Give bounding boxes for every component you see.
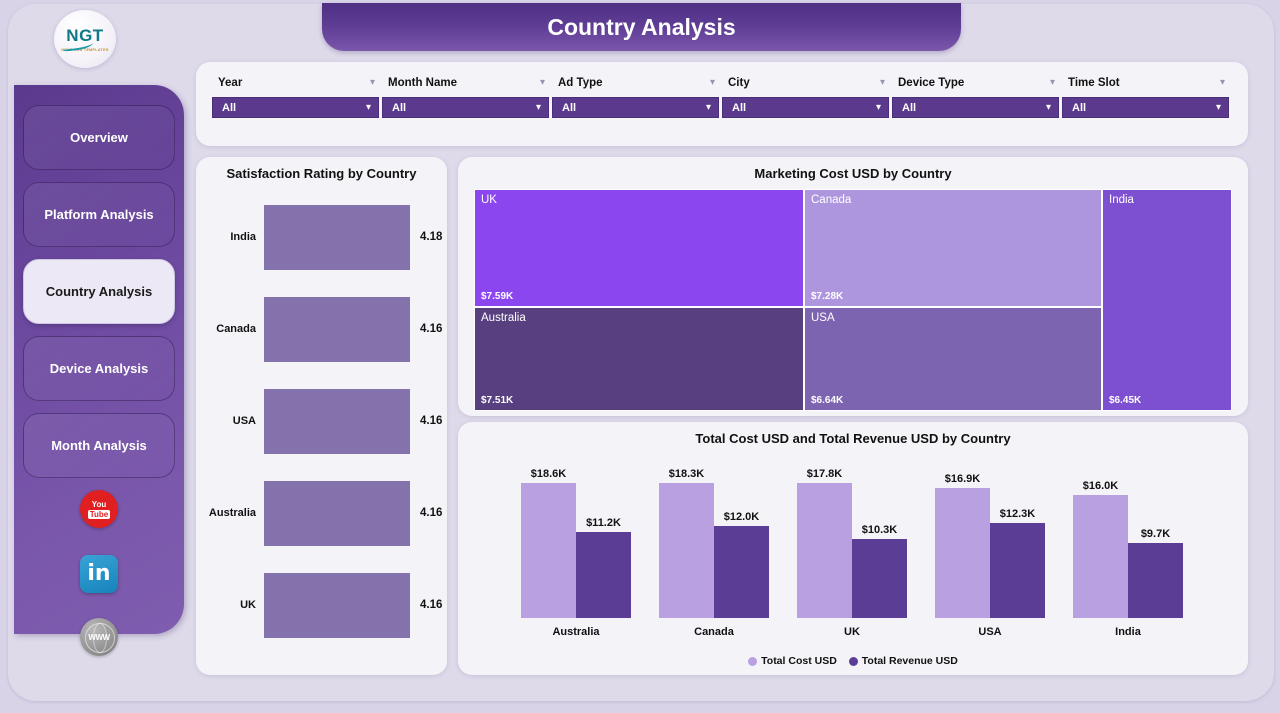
treemap-tile-label: Canada bbox=[811, 194, 851, 206]
column-bar[interactable] bbox=[1128, 543, 1183, 618]
sidebar-item-platform-analysis[interactable]: Platform Analysis bbox=[23, 182, 175, 247]
column-bars: $18.6K$11.2K bbox=[506, 468, 646, 618]
satisfaction-bar-row: India4.18 bbox=[196, 191, 447, 283]
satisfaction-bar-row: UK4.16 bbox=[196, 559, 447, 651]
column-category-label: Australia bbox=[506, 626, 646, 638]
chevron-down-icon[interactable]: ▾ bbox=[370, 78, 375, 88]
legend-color-swatch bbox=[748, 657, 757, 666]
column-group: $18.3K$12.0KCanada bbox=[644, 450, 784, 640]
slicer-dropdown[interactable]: All▾ bbox=[382, 97, 549, 118]
legend-label: Total Revenue USD bbox=[862, 655, 958, 667]
column-bar[interactable] bbox=[935, 488, 990, 618]
chevron-down-icon[interactable]: ▾ bbox=[1220, 78, 1225, 88]
satisfaction-category-label: UK bbox=[196, 599, 264, 611]
satisfaction-category-label: India bbox=[196, 231, 264, 243]
satisfaction-bar[interactable] bbox=[264, 573, 410, 638]
sidebar-item-label: Device Analysis bbox=[50, 361, 149, 376]
satisfaction-value-label: 4.16 bbox=[420, 507, 442, 519]
slicer-device-type[interactable]: Device Type▾All▾ bbox=[892, 74, 1059, 118]
slicer-dropdown[interactable]: All▾ bbox=[1062, 97, 1229, 118]
treemap-tile-value: $6.64K bbox=[811, 395, 843, 406]
sidebar-item-label: Country Analysis bbox=[46, 284, 152, 299]
column-chart-title: Total Cost USD and Total Revenue USD by … bbox=[458, 422, 1248, 446]
sidebar-item-label: Overview bbox=[70, 130, 128, 145]
treemap-tile[interactable]: Canada$7.28K bbox=[804, 189, 1102, 307]
chevron-down-icon[interactable]: ▾ bbox=[880, 78, 885, 88]
slicer-city[interactable]: City▾All▾ bbox=[722, 74, 889, 118]
satisfaction-category-label: Canada bbox=[196, 323, 264, 335]
sidebar-item-overview[interactable]: Overview bbox=[23, 105, 175, 170]
column-group: $16.9K$12.3KUSA bbox=[920, 450, 1060, 640]
treemap-tile-label: USA bbox=[811, 312, 835, 324]
treemap-tile-value: $7.51K bbox=[481, 395, 513, 406]
column-group: $17.8K$10.3KUK bbox=[782, 450, 922, 640]
legend-label: Total Cost USD bbox=[761, 655, 837, 667]
satisfaction-category-label: Australia bbox=[196, 507, 264, 519]
treemap-tile-label: Australia bbox=[481, 312, 526, 324]
satisfaction-value-label: 4.16 bbox=[420, 415, 442, 427]
chevron-down-icon: ▾ bbox=[1046, 102, 1051, 113]
satisfaction-category-label: USA bbox=[196, 415, 264, 427]
column-bar-wrap: $9.7K bbox=[1128, 468, 1183, 618]
slicer-list: Year▾All▾Month Name▾All▾Ad Type▾All▾City… bbox=[196, 62, 1248, 118]
column-category-label: USA bbox=[920, 626, 1060, 638]
treemap-tile[interactable]: USA$6.64K bbox=[804, 307, 1102, 411]
chevron-down-icon: ▾ bbox=[366, 102, 371, 113]
legend-item[interactable]: Total Revenue USD bbox=[849, 655, 958, 667]
column-bar[interactable] bbox=[852, 539, 907, 618]
slicer-header: Device Type▾ bbox=[892, 74, 1059, 92]
treemap-tile-label: UK bbox=[481, 194, 497, 206]
column-bar[interactable] bbox=[576, 532, 631, 618]
slicer-year[interactable]: Year▾All▾ bbox=[212, 74, 379, 118]
youtube-icon[interactable]: You Tube bbox=[80, 490, 118, 528]
satisfaction-bar[interactable] bbox=[264, 297, 410, 362]
column-bar[interactable] bbox=[659, 483, 714, 618]
slicer-value: All bbox=[222, 102, 236, 114]
sidebar-item-country-analysis[interactable]: Country Analysis bbox=[23, 259, 175, 324]
column-value-label: $16.9K bbox=[935, 473, 990, 485]
satisfaction-plot: India4.18Canada4.16USA4.16Australia4.16U… bbox=[196, 191, 447, 651]
social-links: You Tube in WWW bbox=[14, 490, 184, 620]
column-value-label: $17.8K bbox=[797, 468, 852, 480]
satisfaction-rating-chart: Satisfaction Rating by Country India4.18… bbox=[196, 157, 447, 675]
satisfaction-value-label: 4.16 bbox=[420, 599, 442, 611]
slicer-header: City▾ bbox=[722, 74, 889, 92]
slicer-label: City bbox=[728, 77, 750, 89]
column-value-label: $18.6K bbox=[521, 468, 576, 480]
satisfaction-bar[interactable] bbox=[264, 389, 410, 454]
sidebar-item-label: Platform Analysis bbox=[44, 207, 153, 222]
satisfaction-bar-row: Australia4.16 bbox=[196, 467, 447, 559]
slicer-dropdown[interactable]: All▾ bbox=[722, 97, 889, 118]
column-bar-wrap: $11.2K bbox=[576, 468, 631, 618]
slicer-label: Device Type bbox=[898, 77, 964, 89]
sidebar-item-device-analysis[interactable]: Device Analysis bbox=[23, 336, 175, 401]
column-value-label: $10.3K bbox=[852, 524, 907, 536]
slicer-value: All bbox=[1072, 102, 1086, 114]
slicer-ad-type[interactable]: Ad Type▾All▾ bbox=[552, 74, 719, 118]
linkedin-icon[interactable]: in bbox=[80, 555, 118, 593]
legend-item[interactable]: Total Cost USD bbox=[748, 655, 837, 667]
youtube-icon-bottom: Tube bbox=[88, 510, 111, 519]
treemap-tile-value: $6.45K bbox=[1109, 395, 1141, 406]
satisfaction-bar[interactable] bbox=[264, 205, 410, 270]
chevron-down-icon: ▾ bbox=[706, 102, 711, 113]
filter-bar: Year▾All▾Month Name▾All▾Ad Type▾All▾City… bbox=[196, 62, 1248, 146]
slicer-dropdown[interactable]: All▾ bbox=[552, 97, 719, 118]
column-bar-wrap: $16.9K bbox=[935, 468, 990, 618]
column-bar-wrap: $16.0K bbox=[1073, 468, 1128, 618]
slicer-header: Month Name▾ bbox=[382, 74, 549, 92]
legend-color-swatch bbox=[849, 657, 858, 666]
column-chart-plot: $18.6K$11.2KAustralia$18.3K$12.0KCanada$… bbox=[458, 450, 1248, 640]
chevron-down-icon[interactable]: ▾ bbox=[1050, 78, 1055, 88]
slicer-value: All bbox=[902, 102, 916, 114]
column-bars: $18.3K$12.0K bbox=[644, 468, 784, 618]
column-bars: $16.0K$9.7K bbox=[1058, 468, 1198, 618]
treemap-plot: UK$7.59KCanada$7.28KIndia$6.45KAustralia… bbox=[474, 189, 1232, 411]
treemap-tile-value: $7.28K bbox=[811, 291, 843, 302]
chevron-down-icon[interactable]: ▾ bbox=[710, 78, 715, 88]
column-value-label: $11.2K bbox=[576, 517, 631, 529]
slicer-dropdown[interactable]: All▾ bbox=[892, 97, 1059, 118]
treemap-title: Marketing Cost USD by Country bbox=[458, 157, 1248, 181]
column-group: $18.6K$11.2KAustralia bbox=[506, 450, 646, 640]
slicer-label: Time Slot bbox=[1068, 77, 1120, 89]
slicer-month-name[interactable]: Month Name▾All▾ bbox=[382, 74, 549, 118]
slicer-value: All bbox=[562, 102, 576, 114]
slicer-header: Ad Type▾ bbox=[552, 74, 719, 92]
column-bar[interactable] bbox=[1073, 495, 1128, 618]
marketing-cost-treemap: Marketing Cost USD by Country UK$7.59KCa… bbox=[458, 157, 1248, 416]
slicer-value: All bbox=[392, 102, 406, 114]
linkedin-icon-glyph: in bbox=[87, 563, 110, 585]
column-bar-wrap: $10.3K bbox=[852, 468, 907, 618]
chevron-down-icon[interactable]: ▾ bbox=[540, 78, 545, 88]
website-icon-glyph: WWW bbox=[88, 633, 109, 642]
satisfaction-chart-title: Satisfaction Rating by Country bbox=[196, 157, 447, 181]
treemap-tile[interactable]: India$6.45K bbox=[1102, 189, 1232, 411]
satisfaction-value-label: 4.18 bbox=[420, 231, 442, 243]
chevron-down-icon: ▾ bbox=[1216, 102, 1221, 113]
column-bars: $16.9K$12.3K bbox=[920, 468, 1060, 618]
column-bar-wrap: $18.6K bbox=[521, 468, 576, 618]
slicer-label: Month Name bbox=[388, 77, 457, 89]
page-title-text: Country Analysis bbox=[547, 14, 735, 41]
slicer-header: Time Slot▾ bbox=[1062, 74, 1229, 92]
slicer-time-slot[interactable]: Time Slot▾All▾ bbox=[1062, 74, 1229, 118]
page-title: Country Analysis bbox=[322, 3, 961, 51]
column-value-label: $18.3K bbox=[659, 468, 714, 480]
slicer-label: Ad Type bbox=[558, 77, 603, 89]
cost-revenue-column-chart: Total Cost USD and Total Revenue USD by … bbox=[458, 422, 1248, 675]
treemap-tile[interactable]: Australia$7.51K bbox=[474, 307, 804, 411]
column-bar[interactable] bbox=[797, 483, 852, 618]
slicer-header: Year▾ bbox=[212, 74, 379, 92]
column-category-label: Canada bbox=[644, 626, 784, 638]
column-bar-wrap: $12.3K bbox=[990, 468, 1045, 618]
column-value-label: $16.0K bbox=[1073, 480, 1128, 492]
column-bar[interactable] bbox=[714, 526, 769, 618]
slicer-dropdown[interactable]: All▾ bbox=[212, 97, 379, 118]
dashboard-canvas: NGT NEXT GEN TEMPLATES Overview Platform… bbox=[0, 0, 1280, 713]
column-bar-wrap: $18.3K bbox=[659, 468, 714, 618]
column-bars: $17.8K$10.3K bbox=[782, 468, 922, 618]
column-category-label: UK bbox=[782, 626, 922, 638]
satisfaction-bar-row: Canada4.16 bbox=[196, 283, 447, 375]
column-value-label: $12.3K bbox=[990, 508, 1045, 520]
satisfaction-bar-row: USA4.16 bbox=[196, 375, 447, 467]
satisfaction-bar[interactable] bbox=[264, 481, 410, 546]
sidebar-item-month-analysis[interactable]: Month Analysis bbox=[23, 413, 175, 478]
chevron-down-icon: ▾ bbox=[876, 102, 881, 113]
treemap-tile-value: $7.59K bbox=[481, 291, 513, 302]
column-value-label: $9.7K bbox=[1128, 528, 1183, 540]
satisfaction-value-label: 4.16 bbox=[420, 323, 442, 335]
column-value-label: $12.0K bbox=[714, 511, 769, 523]
brand-logo: NGT NEXT GEN TEMPLATES bbox=[54, 10, 116, 68]
column-bar[interactable] bbox=[521, 483, 576, 618]
sidebar-nav-list: Overview Platform Analysis Country Analy… bbox=[14, 95, 184, 490]
slicer-value: All bbox=[732, 102, 746, 114]
treemap-tile[interactable]: UK$7.59K bbox=[474, 189, 804, 307]
column-group: $16.0K$9.7KIndia bbox=[1058, 450, 1198, 640]
column-chart-legend: Total Cost USDTotal Revenue USD bbox=[458, 655, 1248, 667]
sidebar-item-label: Month Analysis bbox=[51, 438, 147, 453]
column-bar-wrap: $17.8K bbox=[797, 468, 852, 618]
youtube-icon-top: You bbox=[92, 500, 107, 509]
slicer-label: Year bbox=[218, 77, 242, 89]
website-icon[interactable]: WWW bbox=[80, 618, 118, 656]
column-bar[interactable] bbox=[990, 523, 1045, 618]
column-bar-wrap: $12.0K bbox=[714, 468, 769, 618]
chevron-down-icon: ▾ bbox=[536, 102, 541, 113]
treemap-tile-label: India bbox=[1109, 194, 1134, 206]
column-category-label: India bbox=[1058, 626, 1198, 638]
